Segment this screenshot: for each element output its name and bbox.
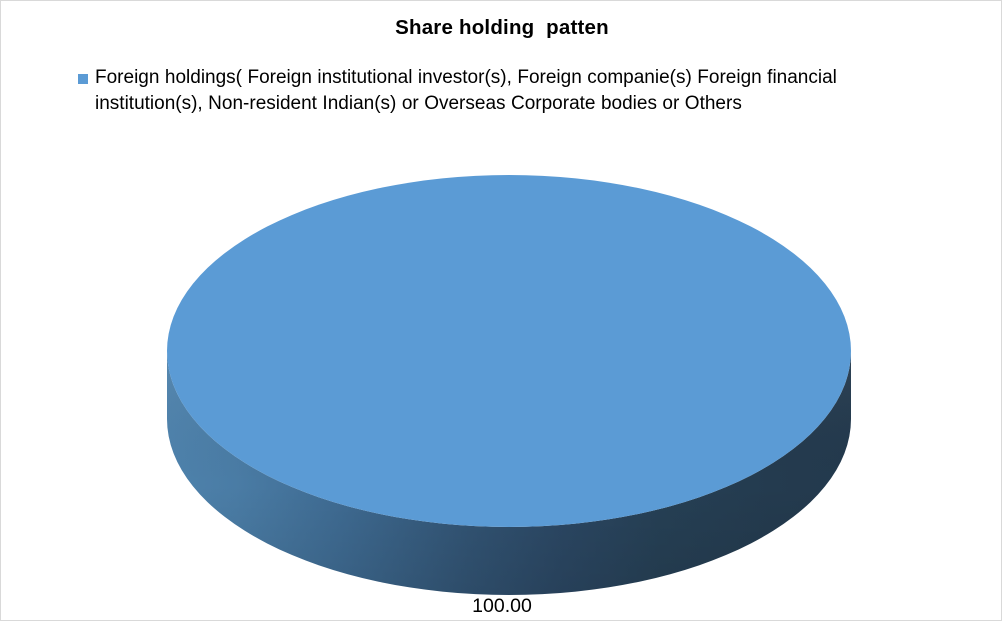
pie-data-label: 100.00 <box>1 593 1002 619</box>
chart-canvas: Share holding patten Foreign holdings( F… <box>0 0 1002 621</box>
pie-slice-foreign-holdings[interactable] <box>167 175 851 527</box>
pie-chart-3d[interactable] <box>1 1 1002 621</box>
